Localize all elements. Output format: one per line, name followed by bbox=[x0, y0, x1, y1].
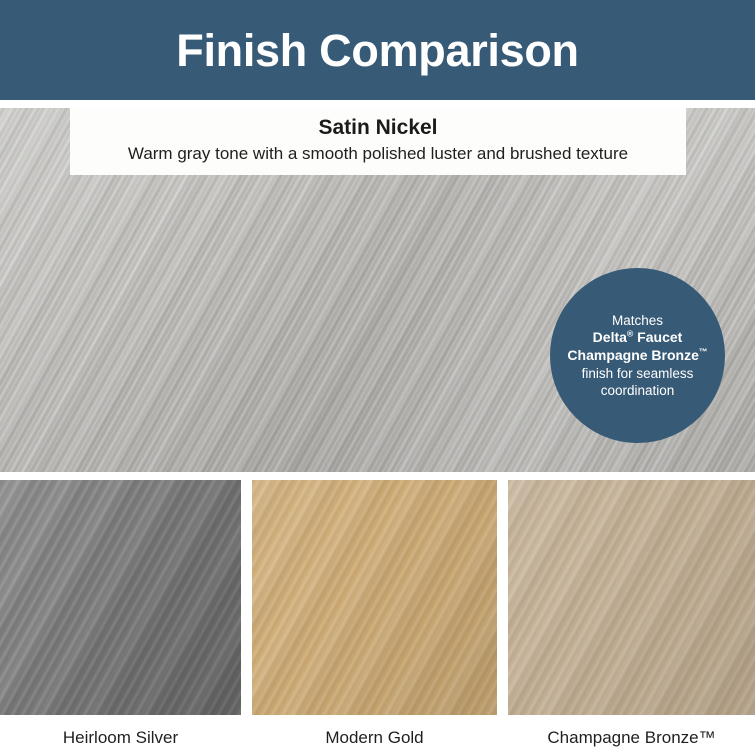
badge-brand-name: Delta bbox=[593, 329, 627, 345]
badge-product-name: Champagne Bronze bbox=[567, 347, 698, 363]
match-badge: Matches Delta® Faucet Champagne Bronze™ … bbox=[550, 268, 725, 443]
swatch-sheen-overlay bbox=[0, 480, 241, 715]
badge-coordination-line: coordination bbox=[601, 382, 675, 399]
swatch-champagne-bronze[interactable] bbox=[508, 480, 755, 715]
swatch-label-heirloom-silver: Heirloom Silver bbox=[0, 728, 241, 748]
badge-brand-suffix: Faucet bbox=[633, 329, 682, 345]
secondary-swatch-row: Heirloom Silver Modern Gold Champagne Br… bbox=[0, 480, 755, 755]
swatch-sheen-overlay bbox=[508, 480, 755, 715]
finish-name: Satin Nickel bbox=[80, 114, 676, 142]
page-title: Finish Comparison bbox=[176, 28, 578, 73]
finish-label-card: Satin Nickel Warm gray tone with a smoot… bbox=[70, 108, 686, 175]
swatch-sheen-overlay bbox=[252, 480, 497, 715]
badge-finish-line: finish for seamless bbox=[582, 365, 694, 382]
trademark-icon: ™ bbox=[699, 346, 708, 356]
badge-brand-line: Delta® Faucet bbox=[593, 329, 683, 347]
swatch-label-modern-gold: Modern Gold bbox=[252, 728, 497, 748]
swatch-modern-gold[interactable] bbox=[252, 480, 497, 715]
badge-matches-label: Matches bbox=[612, 312, 663, 329]
swatch-heirloom-silver[interactable] bbox=[0, 480, 241, 715]
page-header: Finish Comparison bbox=[0, 0, 755, 100]
finish-description: Warm gray tone with a smooth polished lu… bbox=[80, 143, 676, 166]
badge-product-line: Champagne Bronze™ bbox=[567, 347, 707, 365]
swatch-label-champagne-bronze: Champagne Bronze™ bbox=[508, 728, 755, 748]
